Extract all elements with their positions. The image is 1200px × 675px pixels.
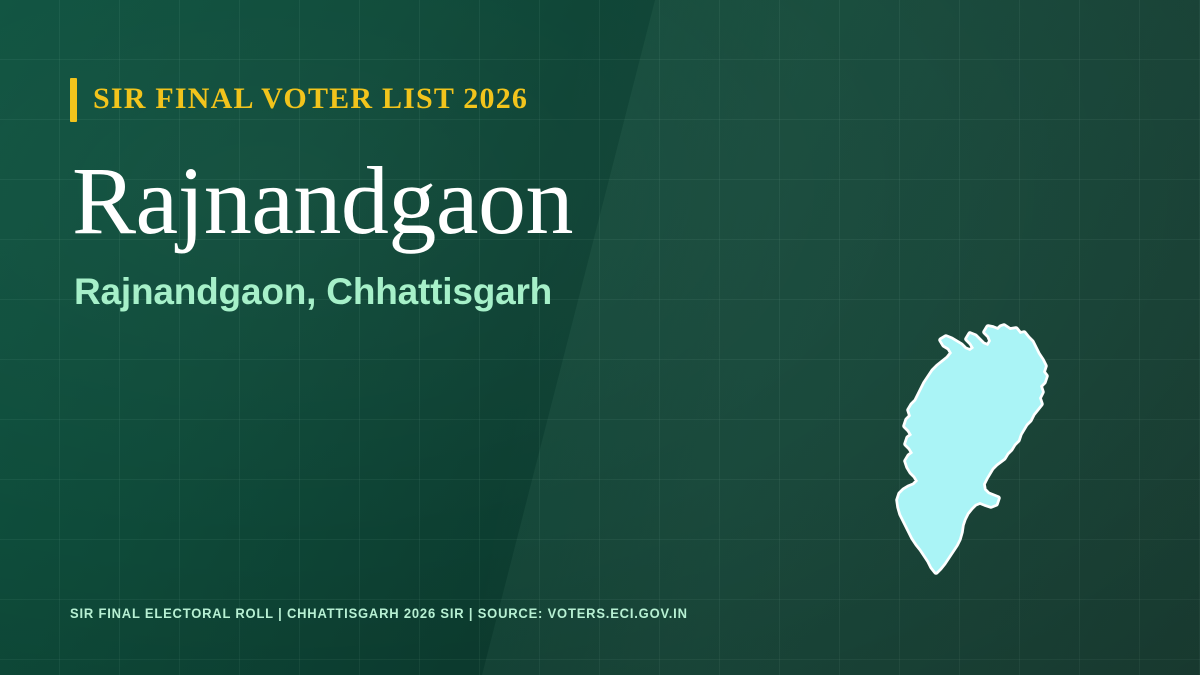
state-map xyxy=(892,316,1056,582)
footer-source-line: SIR FINAL ELECTORAL ROLL | CHHATTISGARH … xyxy=(70,606,688,621)
banner-content: SIR FINAL VOTER LIST 2026 Rajnandgaon Ra… xyxy=(0,0,1200,675)
voter-list-banner: SIR FINAL VOTER LIST 2026 Rajnandgaon Ra… xyxy=(0,0,1200,675)
eyebrow-label: SIR FINAL VOTER LIST 2026 xyxy=(93,84,528,116)
chhattisgarh-state-outline-icon xyxy=(892,316,1056,582)
page-title: Rajnandgaon xyxy=(72,150,573,252)
gold-accent-bar-icon xyxy=(70,78,77,122)
eyebrow-row: SIR FINAL VOTER LIST 2026 xyxy=(70,78,528,122)
page-subtitle: Rajnandgaon, Chhattisgarh xyxy=(74,272,552,313)
